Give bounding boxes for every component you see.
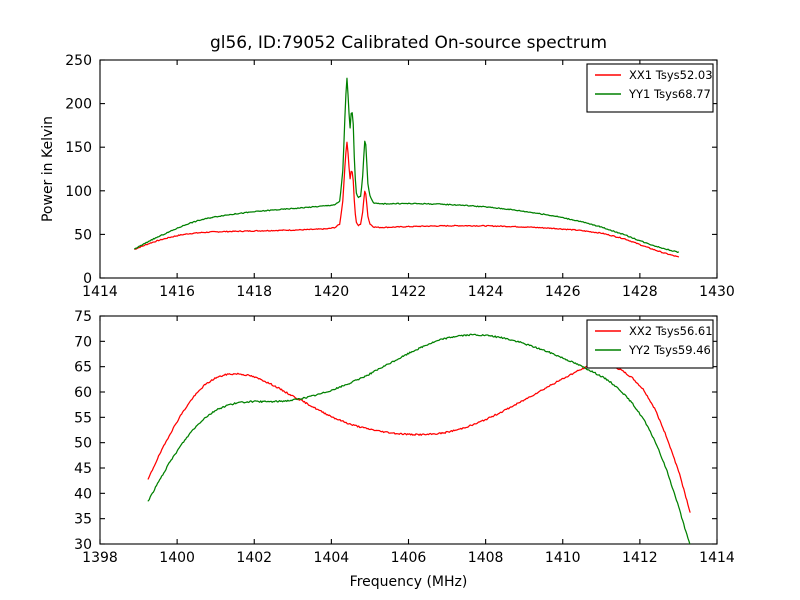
legend-label-xx2: XX2 Tsys56.61 xyxy=(629,324,713,338)
trace-xx1 xyxy=(135,142,679,257)
yticklabel-bottom: 40 xyxy=(74,486,92,502)
panel-bottom: 1398140014021404140614081410141214143035… xyxy=(74,309,735,590)
xticklabel-bottom: 1414 xyxy=(699,550,735,566)
plot-canvas: 1414141614181420142214241426142814300501… xyxy=(0,0,800,600)
yticklabel-bottom: 30 xyxy=(74,537,92,553)
x-axis-label-bottom: Frequency (MHz) xyxy=(350,574,468,590)
xticklabel-bottom: 1404 xyxy=(314,550,350,566)
xticklabel-top: 1428 xyxy=(622,284,658,300)
yticklabel-top: 0 xyxy=(83,271,92,287)
xticklabel-bottom: 1406 xyxy=(391,550,427,566)
xticklabel-top: 1416 xyxy=(159,284,195,300)
panel-top: 1414141614181420142214241426142814300501… xyxy=(40,33,735,300)
legend-label-yy2: YY2 Tsys59.46 xyxy=(628,343,711,357)
yticklabel-bottom: 60 xyxy=(74,385,92,401)
xticklabel-top: 1418 xyxy=(236,284,272,300)
xticklabel-bottom: 1400 xyxy=(159,550,195,566)
xticklabel-top: 1420 xyxy=(314,284,350,300)
trace-xx2 xyxy=(148,364,690,512)
legend-top: XX1 Tsys52.03YY1 Tsys68.77 xyxy=(587,64,713,112)
yticklabel-top: 150 xyxy=(65,140,92,156)
legend-label-yy1: YY1 Tsys68.77 xyxy=(628,87,711,101)
yticklabel-top: 50 xyxy=(74,227,92,243)
yticklabel-bottom: 50 xyxy=(74,436,92,452)
xticklabel-top: 1424 xyxy=(468,284,504,300)
xticklabel-top: 1430 xyxy=(699,284,735,300)
yticklabel-bottom: 65 xyxy=(74,360,92,376)
xticklabel-bottom: 1408 xyxy=(468,550,504,566)
yticklabel-bottom: 45 xyxy=(74,461,92,477)
yticklabel-top: 200 xyxy=(65,97,92,113)
xticklabel-bottom: 1412 xyxy=(622,550,658,566)
legend-label-xx1: XX1 Tsys52.03 xyxy=(629,68,713,82)
yticklabel-top: 250 xyxy=(65,53,92,69)
yticklabel-bottom: 75 xyxy=(74,309,92,325)
y-axis-label-top: Power in Kelvin xyxy=(40,116,56,222)
yticklabel-bottom: 35 xyxy=(74,512,92,528)
yticklabel-top: 100 xyxy=(65,184,92,200)
xticklabel-top: 1426 xyxy=(545,284,581,300)
xticklabel-bottom: 1410 xyxy=(545,550,581,566)
legend-bottom: XX2 Tsys56.61YY2 Tsys59.46 xyxy=(587,320,713,368)
xticklabel-bottom: 1402 xyxy=(236,550,272,566)
yticklabel-bottom: 70 xyxy=(74,334,92,350)
spectrum-figure: 1414141614181420142214241426142814300501… xyxy=(0,0,800,600)
plot-title: gl56, ID:79052 Calibrated On-source spec… xyxy=(210,33,607,53)
xticklabel-top: 1422 xyxy=(391,284,427,300)
yticklabel-bottom: 55 xyxy=(74,410,92,426)
